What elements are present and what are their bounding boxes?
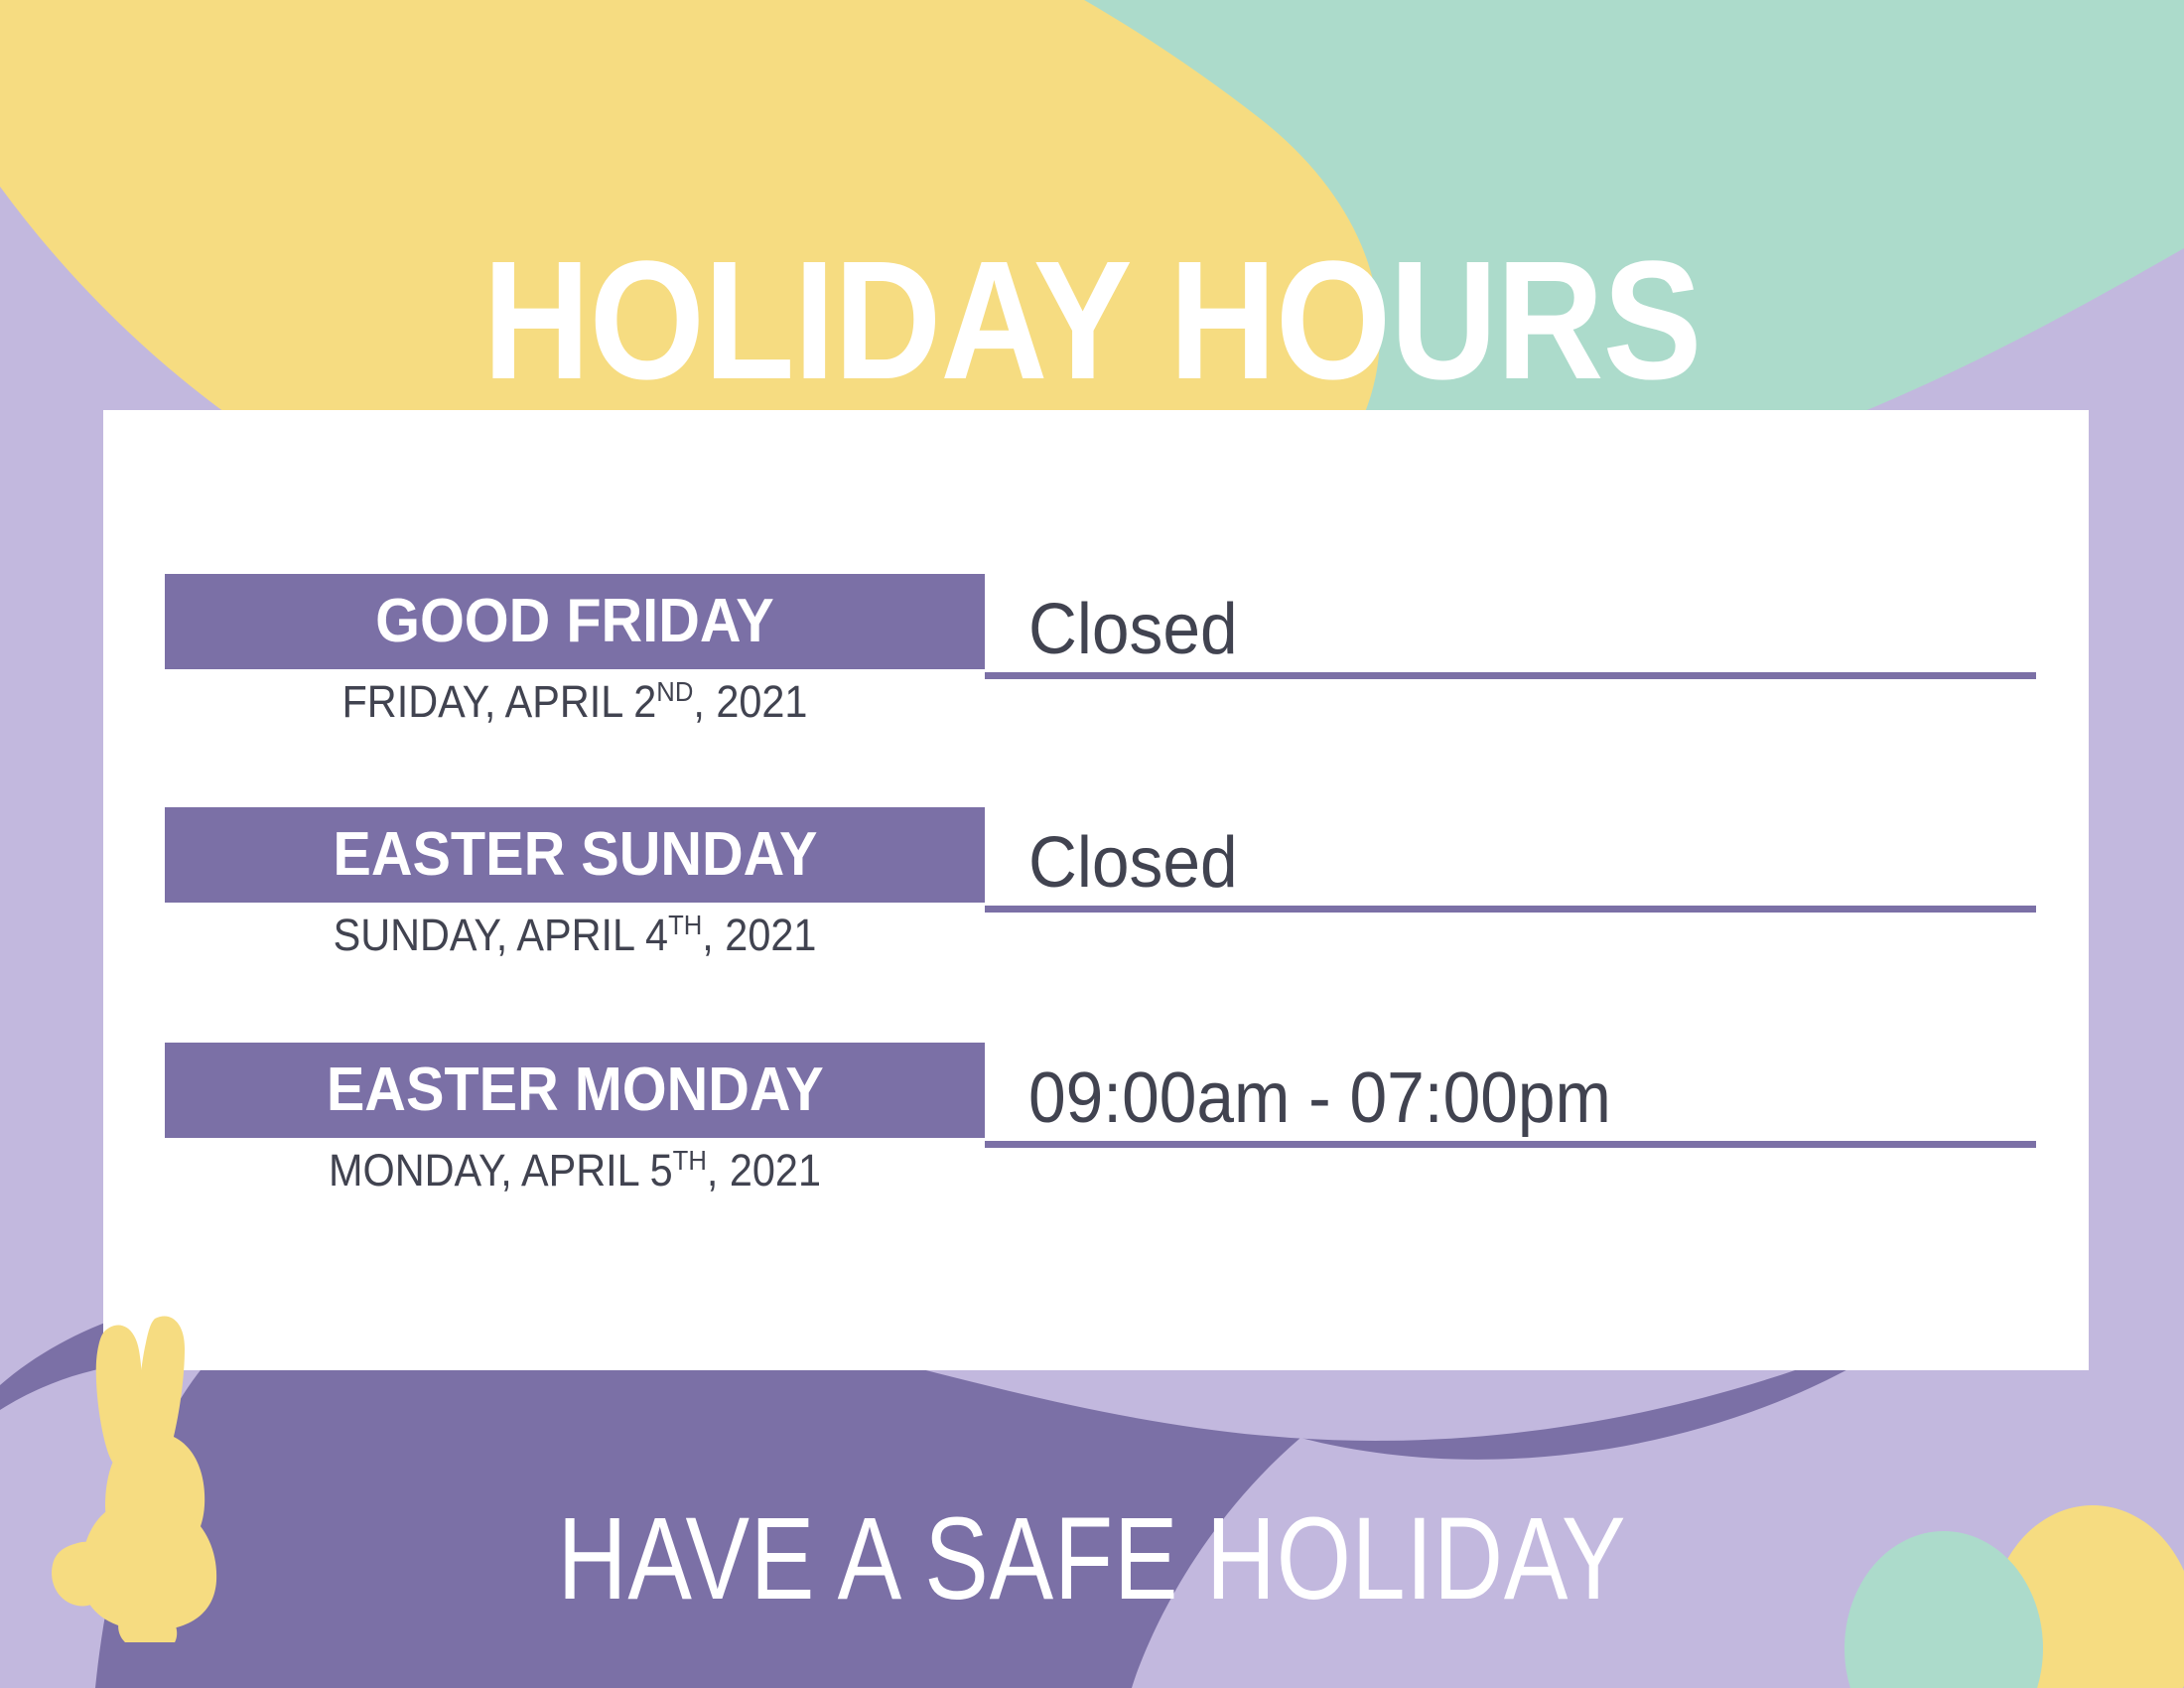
holiday-hours-value: 09:00am - 07:00pm (1028, 1062, 1611, 1134)
holiday-name: EASTER MONDAY (327, 1059, 824, 1121)
holiday-date: MONDAY, APRIL 5TH, 2021 (198, 1146, 952, 1196)
schedule-card: GOOD FRIDAY FRIDAY, APRIL 2ND, 2021 Clos… (103, 410, 2089, 1370)
holiday-hours-poster: HOLIDAY HOURS GOOD FRIDAY FRIDAY, APRIL … (0, 0, 2184, 1688)
hours-underline (985, 906, 2036, 913)
holiday-name: EASTER SUNDAY (333, 824, 817, 886)
holiday-date-prefix: MONDAY, APRIL 5 (329, 1145, 673, 1196)
hours-underline (985, 672, 2036, 679)
holiday-label-bar: EASTER SUNDAY (165, 807, 985, 903)
holiday-hours-cell: Closed (985, 795, 2036, 913)
holiday-date-prefix: SUNDAY, APRIL 4 (334, 910, 668, 960)
holiday-date: FRIDAY, APRIL 2ND, 2021 (198, 677, 952, 727)
holiday-date-suffix: , 2021 (707, 1145, 821, 1196)
holiday-date: SUNDAY, APRIL 4TH, 2021 (198, 911, 952, 960)
holiday-name: GOOD FRIDAY (375, 591, 774, 652)
hours-underline (985, 1141, 2036, 1148)
holiday-hours-cell: Closed (985, 562, 2036, 679)
holiday-date-suffix: , 2021 (702, 910, 816, 960)
holiday-date-prefix: FRIDAY, APRIL 2 (342, 676, 657, 727)
holiday-hours-cell: 09:00am - 07:00pm (985, 1031, 2036, 1148)
schedule-row: EASTER SUNDAY SUNDAY, APRIL 4TH, 2021 Cl… (103, 807, 2089, 1006)
holiday-hours-value: Closed (1028, 594, 1238, 665)
holiday-hours-value: Closed (1028, 827, 1238, 899)
schedule-row: EASTER MONDAY MONDAY, APRIL 5TH, 2021 09… (103, 1043, 2089, 1241)
holiday-label-bar: GOOD FRIDAY (165, 574, 985, 669)
holiday-label-bar: EASTER MONDAY (165, 1043, 985, 1138)
footer-message: HAVE A SAFE HOLIDAY (197, 1491, 1987, 1626)
holiday-date-ordinal: ND (656, 676, 693, 707)
schedule-row: GOOD FRIDAY FRIDAY, APRIL 2ND, 2021 Clos… (103, 574, 2089, 773)
page-title: HOLIDAY HOURS (131, 236, 2053, 405)
holiday-date-ordinal: TH (673, 1145, 707, 1176)
holiday-date-ordinal: TH (668, 910, 702, 940)
holiday-date-suffix: , 2021 (693, 676, 807, 727)
